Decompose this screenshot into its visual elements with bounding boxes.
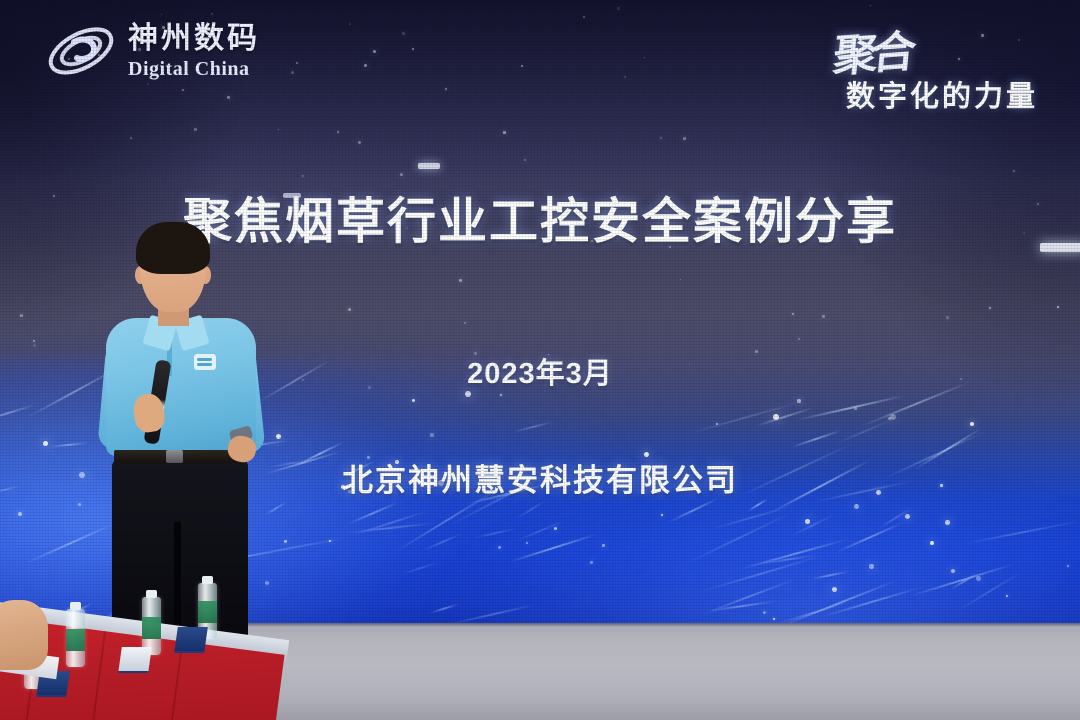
particle (20, 314, 23, 317)
particle (1057, 306, 1059, 308)
name-card (118, 647, 152, 673)
belt-buckle (166, 450, 183, 463)
particle (402, 32, 405, 35)
skirt-fold (159, 641, 183, 720)
particle (348, 308, 351, 311)
particle (430, 433, 434, 437)
bottle-label (66, 629, 85, 651)
particle (989, 307, 991, 309)
particle (373, 50, 376, 53)
conference-photo: 聚焦烟草行业工控安全案例分享 2023年3月 北京神州慧安科技有限公司 神州数码… (0, 0, 1080, 720)
particle (524, 159, 526, 161)
brand-name-en: Digital China (128, 59, 260, 79)
particle (976, 576, 981, 581)
particle (337, 131, 339, 133)
event-logo: 聚合 数字化的力量 (798, 16, 1058, 120)
particle (798, 338, 800, 340)
particle (773, 618, 775, 620)
light-streak (834, 418, 893, 444)
particle (498, 546, 501, 549)
bottle-cap (202, 576, 213, 584)
particle (822, 315, 825, 318)
name-card (174, 627, 208, 653)
particle (854, 407, 857, 410)
spiral-logo-icon (44, 22, 118, 80)
particle (773, 414, 779, 420)
polo-chest-logo (194, 354, 216, 370)
particle (302, 175, 304, 177)
particle (945, 520, 950, 525)
light-bar (418, 163, 440, 169)
bottle-cap (146, 590, 157, 598)
particle (329, 540, 331, 542)
particle (457, 172, 458, 173)
particle (660, 137, 662, 139)
water-bottle (66, 609, 85, 667)
particle (970, 422, 974, 426)
particle (890, 414, 896, 420)
bottle-label (198, 601, 217, 623)
light-streak (791, 430, 840, 448)
speaker-hair (136, 222, 210, 274)
particle (445, 88, 447, 90)
particle (349, 23, 351, 25)
particle (951, 569, 955, 573)
particle (526, 542, 528, 544)
particle (284, 540, 287, 543)
particle (869, 564, 874, 569)
particle (624, 76, 626, 78)
particle (227, 96, 230, 99)
particle (617, 7, 620, 10)
particle (1006, 595, 1008, 597)
particle (683, 137, 686, 140)
particle (797, 399, 801, 403)
particle (33, 344, 36, 347)
particle (716, 423, 718, 425)
event-tagline: 数字化的力量 (846, 73, 1038, 115)
particle (503, 131, 506, 134)
foreground-attendee (0, 600, 48, 670)
particle (78, 503, 81, 506)
brand-name-cn: 神州数码 (128, 24, 260, 54)
particle (18, 512, 22, 516)
particle (194, 128, 197, 131)
particle (946, 316, 949, 319)
bottle-label (142, 617, 161, 639)
particle (888, 417, 891, 420)
digital-china-logo: 神州数码 Digital China (44, 22, 260, 80)
skirt-fold (82, 631, 106, 720)
bottle-cap (70, 602, 81, 610)
particle (1067, 565, 1069, 567)
particle (500, 394, 502, 396)
